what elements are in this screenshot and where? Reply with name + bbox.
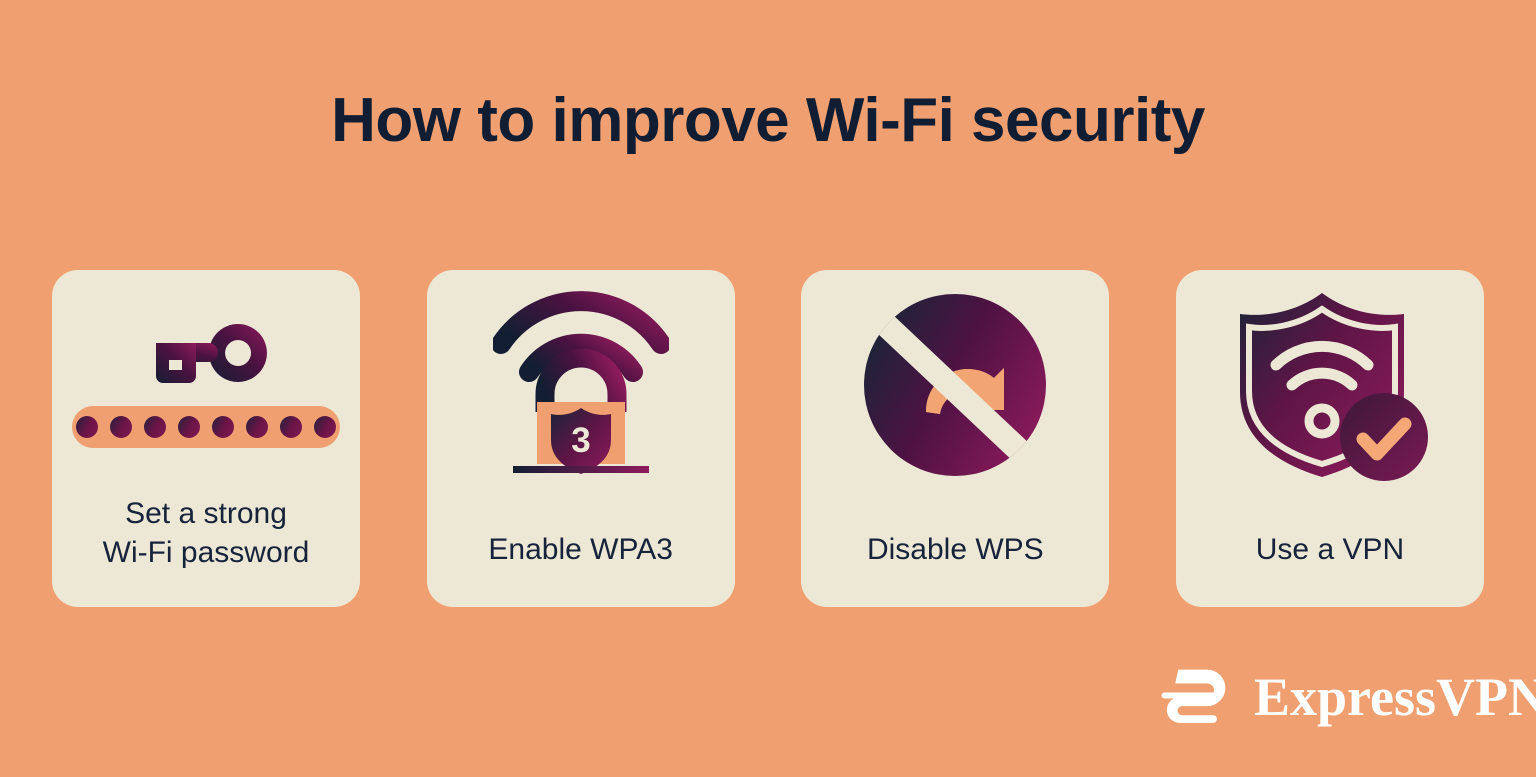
password-dot: [144, 416, 166, 438]
no-sync-arrows-icon: [801, 270, 1109, 500]
password-dot: [246, 416, 268, 438]
key-password-icon: [52, 270, 360, 500]
password-dot: [178, 416, 200, 438]
wifi-padlock-shield-icon: 3: [427, 270, 735, 500]
password-dot: [280, 416, 302, 438]
card-set-strong-password[interactable]: Set a strong Wi-Fi password: [52, 270, 360, 607]
disable-wps-icon: [864, 294, 1046, 476]
password-dots-bar: [72, 406, 340, 448]
tips-card-row: Set a strong Wi-Fi password: [52, 270, 1484, 607]
shield-number: 3: [571, 421, 590, 460]
card-enable-wpa3[interactable]: 3 Enable WPA3: [427, 270, 735, 607]
wifi-shield-check-icon: [1176, 270, 1484, 500]
infographic-canvas: How to improve Wi-Fi security: [0, 0, 1536, 777]
expressvpn-wordmark: ExpressVPN: [1254, 670, 1536, 724]
key-icon: [142, 322, 270, 384]
expressvpn-e-mark: [1160, 659, 1236, 735]
card-label: Disable WPS: [801, 530, 1109, 569]
card-label: Set a strong Wi-Fi password: [52, 494, 360, 572]
expressvpn-logo: ExpressVPN: [1160, 655, 1536, 739]
card-label: Enable WPA3: [427, 530, 735, 569]
password-dot: [76, 416, 98, 438]
card-use-a-vpn[interactable]: Use a VPN: [1176, 270, 1484, 607]
card-disable-wps[interactable]: Disable WPS: [801, 270, 1109, 607]
password-dot: [110, 416, 132, 438]
padlock-wifi-icon: 3: [493, 290, 669, 480]
vpn-shield-icon: [1232, 287, 1428, 483]
password-dot: [314, 416, 336, 438]
page-title: How to improve Wi-Fi security: [0, 90, 1536, 152]
password-dot: [212, 416, 234, 438]
card-label: Use a VPN: [1176, 530, 1484, 569]
